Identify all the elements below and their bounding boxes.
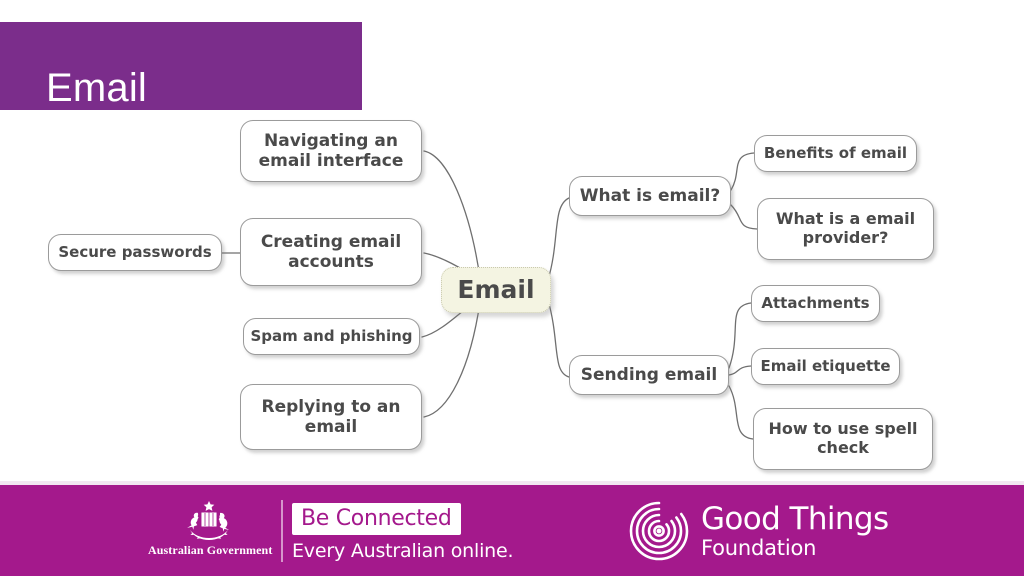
connector-email-etiquette xyxy=(729,366,751,375)
be-connected-logo: Be Connected Every Australian online. xyxy=(292,503,482,565)
mindmap-node-sending-email[interactable]: Sending email xyxy=(569,355,729,395)
mindmap-node-email-etiquette[interactable]: Email etiquette xyxy=(751,348,900,385)
mindmap-central-label: Email xyxy=(457,275,534,305)
mindmap-node-creating-email-accounts[interactable]: Creating emailaccounts xyxy=(240,218,422,286)
be-connected-tagline: Every Australian online. xyxy=(292,540,482,562)
node-label: Email etiquette xyxy=(760,358,890,376)
good-things-foundation-logo: Good Things Foundation xyxy=(628,500,889,562)
node-label: What is a emailprovider? xyxy=(776,210,915,248)
mindmap-node-how-to-use-spell-check[interactable]: How to use spellcheck xyxy=(753,408,933,470)
mindmap-node-what-is-a-email-provider[interactable]: What is a emailprovider? xyxy=(757,198,934,260)
mindmap-node-benefits-of-email[interactable]: Benefits of email xyxy=(754,135,917,172)
mindmap-node-navigating-an-email-interface[interactable]: Navigating anemail interface xyxy=(240,120,422,182)
connector-attachments xyxy=(729,303,751,368)
header-banner: Email xyxy=(0,22,362,110)
connector-benefits-of-email xyxy=(731,153,754,190)
australian-government-label: Australian Government xyxy=(148,543,270,558)
mindmap-node-replying-to-an-email[interactable]: Replying to anemail xyxy=(240,384,422,450)
mindmap-node-spam-and-phishing[interactable]: Spam and phishing xyxy=(243,318,420,355)
node-label: Benefits of email xyxy=(764,145,907,163)
fingerprint-spiral-icon xyxy=(628,500,690,562)
good-things-foundation-wordmark: Good Things Foundation xyxy=(701,504,889,559)
gtf-line1: Good Things xyxy=(701,504,889,535)
connector-how-to-use-spell-check xyxy=(729,386,753,439)
node-label: What is email? xyxy=(580,186,720,206)
australian-coat-of-arms-icon xyxy=(148,499,270,543)
node-label: Sending email xyxy=(581,365,717,385)
footer-divider xyxy=(281,500,283,562)
connector-what-is-a-email-provider xyxy=(731,205,757,229)
mindmap-diagram: Email Navigating anemail interface Secur… xyxy=(0,110,1024,485)
node-label: Secure passwords xyxy=(58,244,211,262)
be-connected-title: Be Connected xyxy=(292,503,461,535)
connector-sending-email xyxy=(548,300,569,377)
mindmap-central-node[interactable]: Email xyxy=(441,267,551,313)
slide-canvas: Email xyxy=(0,0,1024,576)
mindmap-node-what-is-email[interactable]: What is email? xyxy=(569,176,731,216)
node-label: Navigating anemail interface xyxy=(259,131,404,171)
node-label: How to use spellcheck xyxy=(768,420,917,458)
connector-what-is-email xyxy=(548,198,569,280)
node-label: Spam and phishing xyxy=(251,328,413,346)
page-title: Email xyxy=(46,64,147,112)
gtf-line2: Foundation xyxy=(701,538,889,559)
node-label: Attachments xyxy=(761,295,869,313)
node-label: Replying to anemail xyxy=(261,397,400,437)
mindmap-node-attachments[interactable]: Attachments xyxy=(751,285,880,322)
node-label: Creating emailaccounts xyxy=(261,232,401,272)
mindmap-node-secure-passwords[interactable]: Secure passwords xyxy=(48,234,222,271)
australian-government-logo: Australian Government xyxy=(148,499,270,565)
connector-navigating xyxy=(424,151,480,278)
